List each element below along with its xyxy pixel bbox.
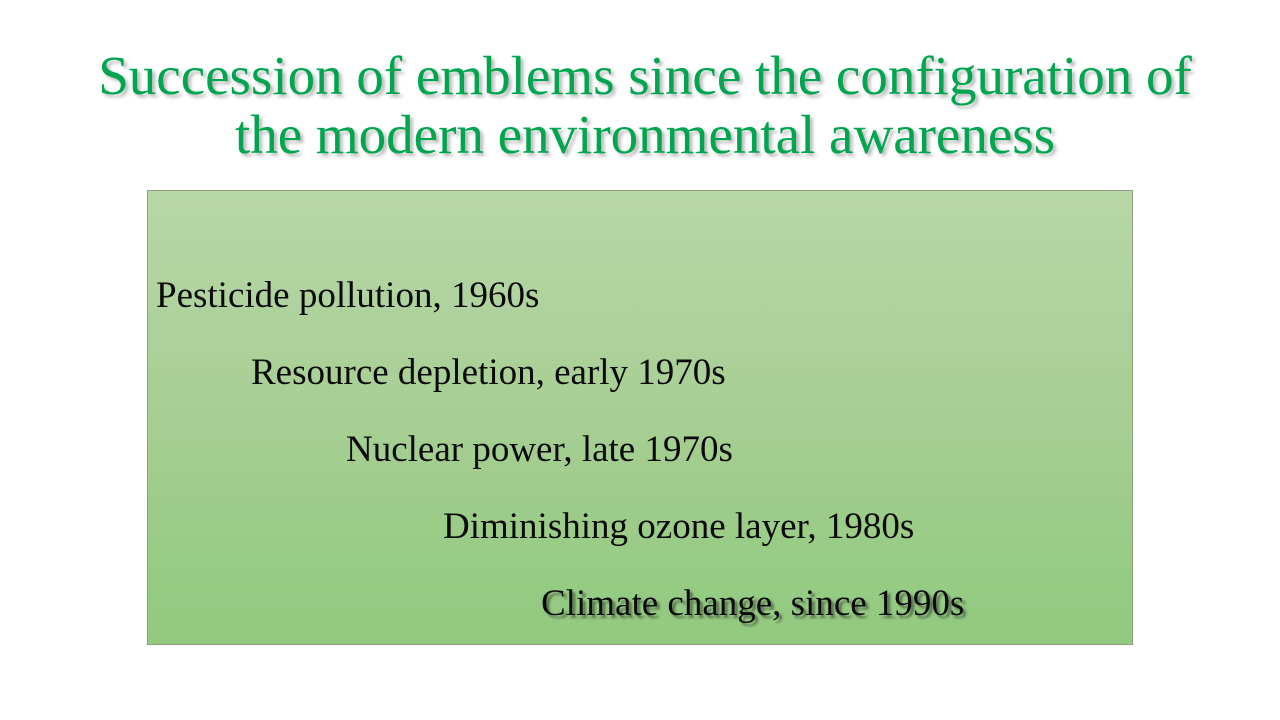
emblem-list: Pesticide pollution, 1960s Resource depl… bbox=[148, 191, 1132, 644]
list-item: Pesticide pollution, 1960s bbox=[156, 277, 539, 314]
list-item: Climate change, since 1990s bbox=[541, 585, 964, 622]
list-item: Diminishing ozone layer, 1980s bbox=[443, 508, 914, 545]
list-item: Resource depletion, early 1970s bbox=[251, 354, 726, 391]
slide: Succession of emblems since the configur… bbox=[0, 0, 1280, 720]
page-title: Succession of emblems since the configur… bbox=[64, 46, 1226, 165]
content-box: Pesticide pollution, 1960s Resource depl… bbox=[147, 190, 1133, 645]
list-item: Nuclear power, late 1970s bbox=[346, 431, 733, 468]
